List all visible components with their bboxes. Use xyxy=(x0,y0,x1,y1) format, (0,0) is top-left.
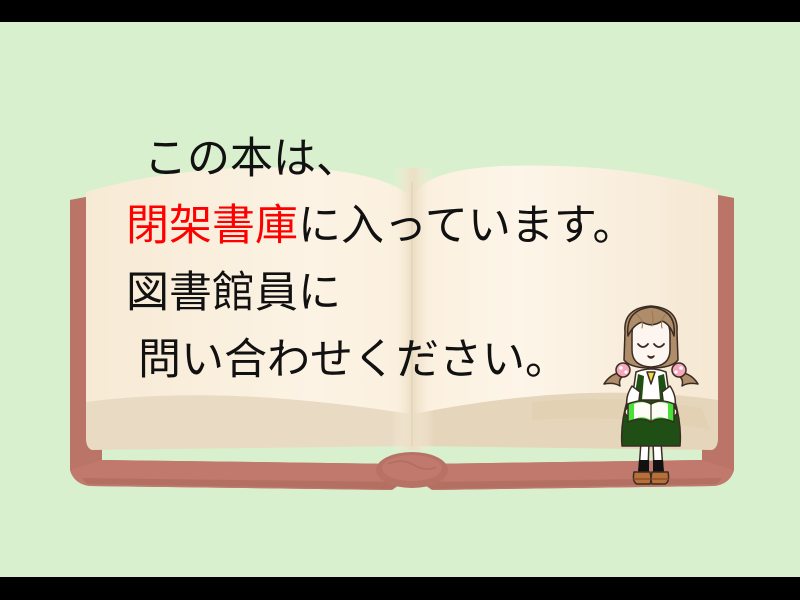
hairtie-left-dot-1 xyxy=(619,366,623,370)
message-line-2: 閉架書庫に入っています。 xyxy=(126,199,686,255)
hairtie-left-dot-2 xyxy=(624,370,627,373)
message-line-1: この本は、 xyxy=(126,132,686,188)
message-line-2-suffix: に入っています。 xyxy=(298,201,636,251)
shoe-left xyxy=(633,472,651,484)
sock-band-left xyxy=(638,460,649,472)
hairtie-right-dot-2 xyxy=(674,370,677,373)
slide-canvas: この本は、 閉架書庫に入っています。 図書館員に 問い合わせください。 xyxy=(0,22,800,577)
shoe-right xyxy=(651,472,669,484)
girl-reading-illustration xyxy=(592,294,710,490)
girl-svg xyxy=(592,294,710,490)
letterbox-top-bar xyxy=(0,0,800,22)
hairtie-left xyxy=(616,363,630,377)
letterbox-bottom-bar xyxy=(0,577,800,600)
mouth xyxy=(648,356,654,358)
sock-band-right xyxy=(653,460,664,472)
hairtie-right xyxy=(672,363,686,377)
message-highlight-closed-stacks: 閉架書庫 xyxy=(126,201,298,251)
screenshot-stage: この本は、 閉架書庫に入っています。 図書館員に 問い合わせください。 xyxy=(0,0,800,600)
hairtie-right-dot-1 xyxy=(679,366,683,370)
